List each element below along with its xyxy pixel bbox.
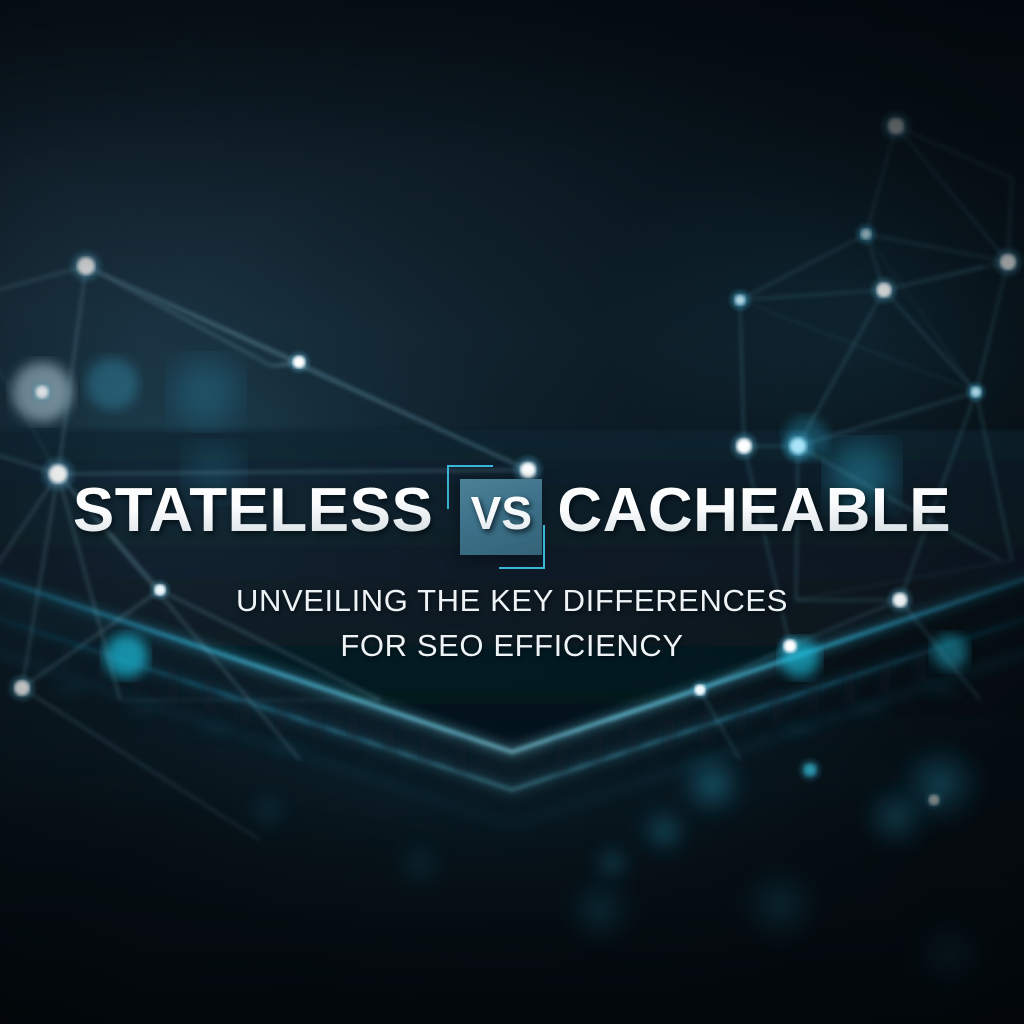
subtitle-line-1: UNVEILING THE KEY DIFFERENCES	[0, 578, 1024, 623]
vs-badge-label: VS	[471, 490, 532, 536]
network-node-group-right	[689, 108, 1024, 811]
poster-title: STATELESS VS CACHEABLE	[0, 468, 1024, 554]
title-word-cacheable: CACHEABLE	[543, 480, 951, 542]
poster-subtitle: UNVEILING THE KEY DIFFERENCES FOR SEO EF…	[0, 578, 1024, 668]
vs-badge: VS	[447, 463, 543, 559]
title-word-stateless: STATELESS	[73, 480, 447, 542]
poster-canvas: STATELESS VS CACHEABLE UNVEILING THE KEY…	[0, 0, 1024, 1024]
subtitle-line-2: FOR SEO EFFICIENCY	[0, 623, 1024, 668]
bokeh-glow-dots	[12, 358, 994, 1004]
